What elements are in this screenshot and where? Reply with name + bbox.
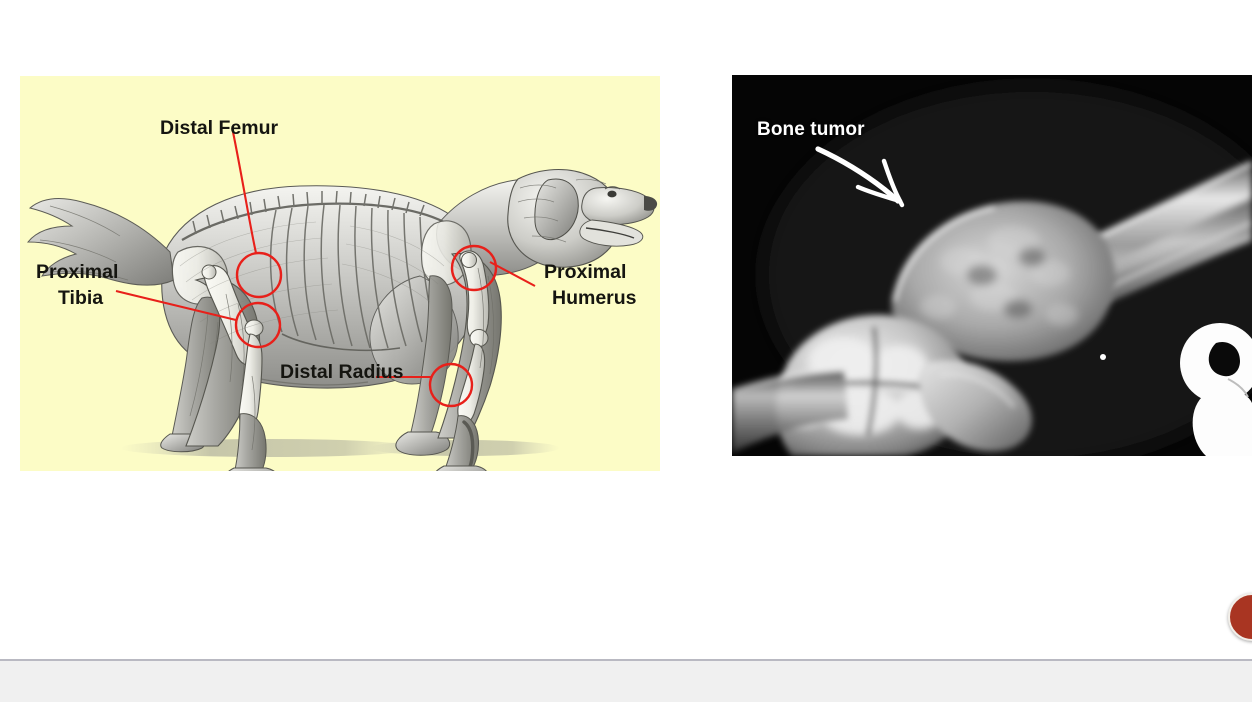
label-proximal-humerus: Proximal bbox=[544, 261, 626, 283]
label-proximal-tibia: Proximal bbox=[36, 261, 118, 283]
slide-canvas: Distal Femur Proximal Tibia Proximal Hum… bbox=[0, 0, 1252, 702]
film-marker-dot bbox=[1100, 354, 1106, 360]
label-distal-femur: Distal Femur bbox=[160, 117, 279, 139]
anatomy-figure: Distal Femur Proximal Tibia Proximal Hum… bbox=[20, 76, 660, 471]
record-button[interactable] bbox=[1228, 593, 1252, 641]
radiograph-figure: Bone tumor bbox=[732, 75, 1252, 456]
label-distal-radius: Distal Radius bbox=[280, 361, 404, 383]
bone-tumor-label: Bone tumor bbox=[757, 119, 865, 141]
bottom-bar bbox=[0, 659, 1252, 702]
label-proximal-humerus-line2: Humerus bbox=[552, 287, 637, 309]
canine-skeleton-illustration: Distal Femur Proximal Tibia Proximal Hum… bbox=[20, 76, 660, 471]
label-proximal-tibia-line2: Tibia bbox=[58, 287, 103, 309]
